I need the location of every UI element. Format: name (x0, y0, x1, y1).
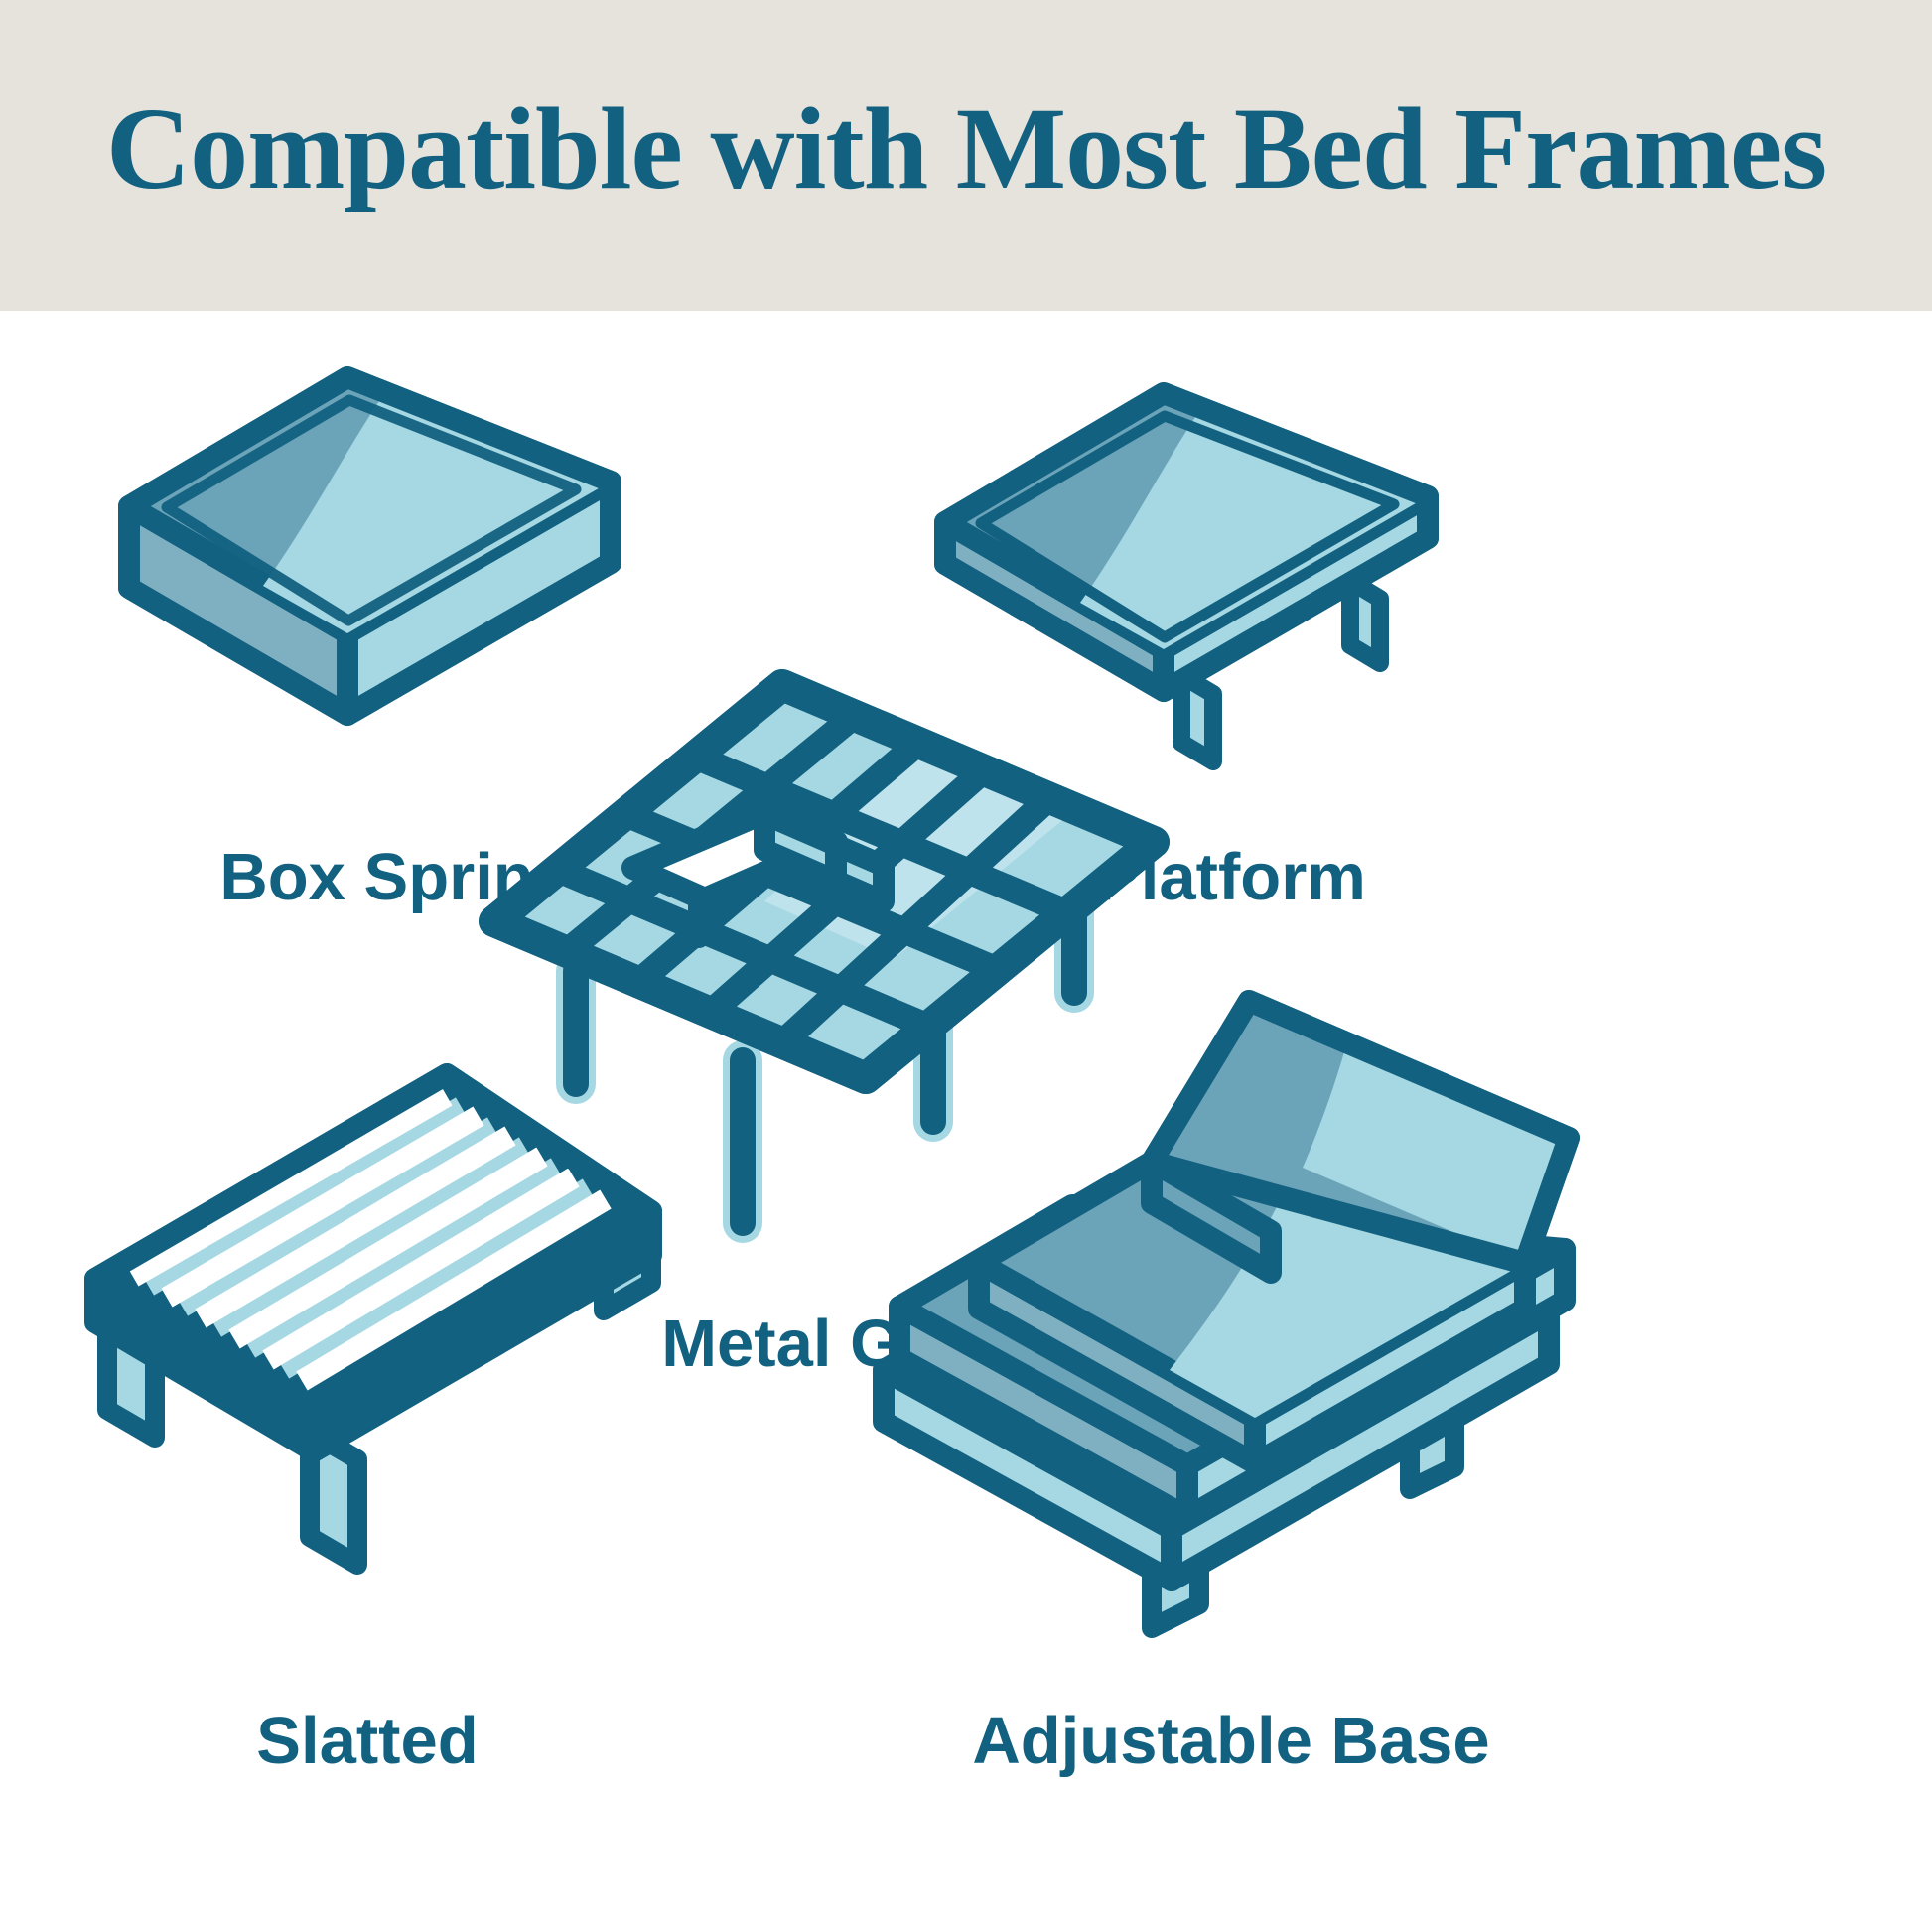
label-adjustable-base: Adjustable Base (854, 1708, 1608, 1774)
adjustable-base-icon (854, 973, 1608, 1767)
item-slatted (60, 1013, 755, 1767)
item-adjustable-base (854, 973, 1608, 1767)
slatted-base-icon (60, 1013, 755, 1767)
infographic-page: Compatible with Most Bed Frames Box Spri… (0, 0, 1932, 1932)
label-slatted: Slatted (50, 1708, 685, 1774)
page-title: Compatible with Most Bed Frames (0, 0, 1932, 311)
